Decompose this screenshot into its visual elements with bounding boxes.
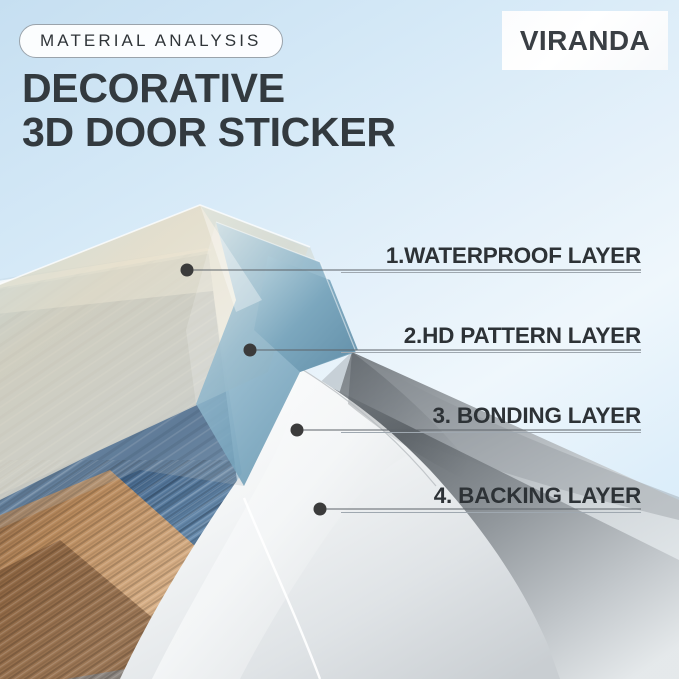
brand-logo-text: VIRANDA <box>520 25 650 57</box>
callout-bonding-layer: 3. BONDING LAYER <box>341 403 641 433</box>
callout-rule-4 <box>341 512 641 513</box>
title-line-2: 3D DOOR STICKER <box>22 110 396 154</box>
callout-hd-pattern-layer: 2.HD PATTERN LAYER <box>341 323 641 353</box>
material-analysis-badge: MATERIAL ANALYSIS <box>19 24 283 58</box>
leader-dot-3 <box>291 424 304 437</box>
callout-label-2: 2.HD PATTERN LAYER <box>341 323 641 349</box>
callout-backing-layer: 4. BACKING LAYER <box>341 483 641 513</box>
callout-label-3: 3. BONDING LAYER <box>341 403 641 429</box>
leader-dot-2 <box>244 344 257 357</box>
leader-dot-1 <box>181 264 194 277</box>
brand-logo: VIRANDA <box>502 11 668 70</box>
badge-label: MATERIAL ANALYSIS <box>40 31 262 51</box>
callout-rule-2 <box>341 352 641 353</box>
callout-label-1: 1.WATERPROOF LAYER <box>341 243 641 269</box>
title-line-1: DECORATIVE <box>22 65 285 111</box>
callout-waterproof-layer: 1.WATERPROOF LAYER <box>341 243 641 273</box>
callout-rule-3 <box>341 432 641 433</box>
page-title: DECORATIVE 3D DOOR STICKER <box>22 66 396 154</box>
callout-label-4: 4. BACKING LAYER <box>341 483 641 509</box>
callout-rule-1 <box>341 272 641 273</box>
leader-dot-4 <box>314 503 327 516</box>
poster-canvas: MATERIAL ANALYSIS DECORATIVE 3D DOOR STI… <box>0 0 679 679</box>
